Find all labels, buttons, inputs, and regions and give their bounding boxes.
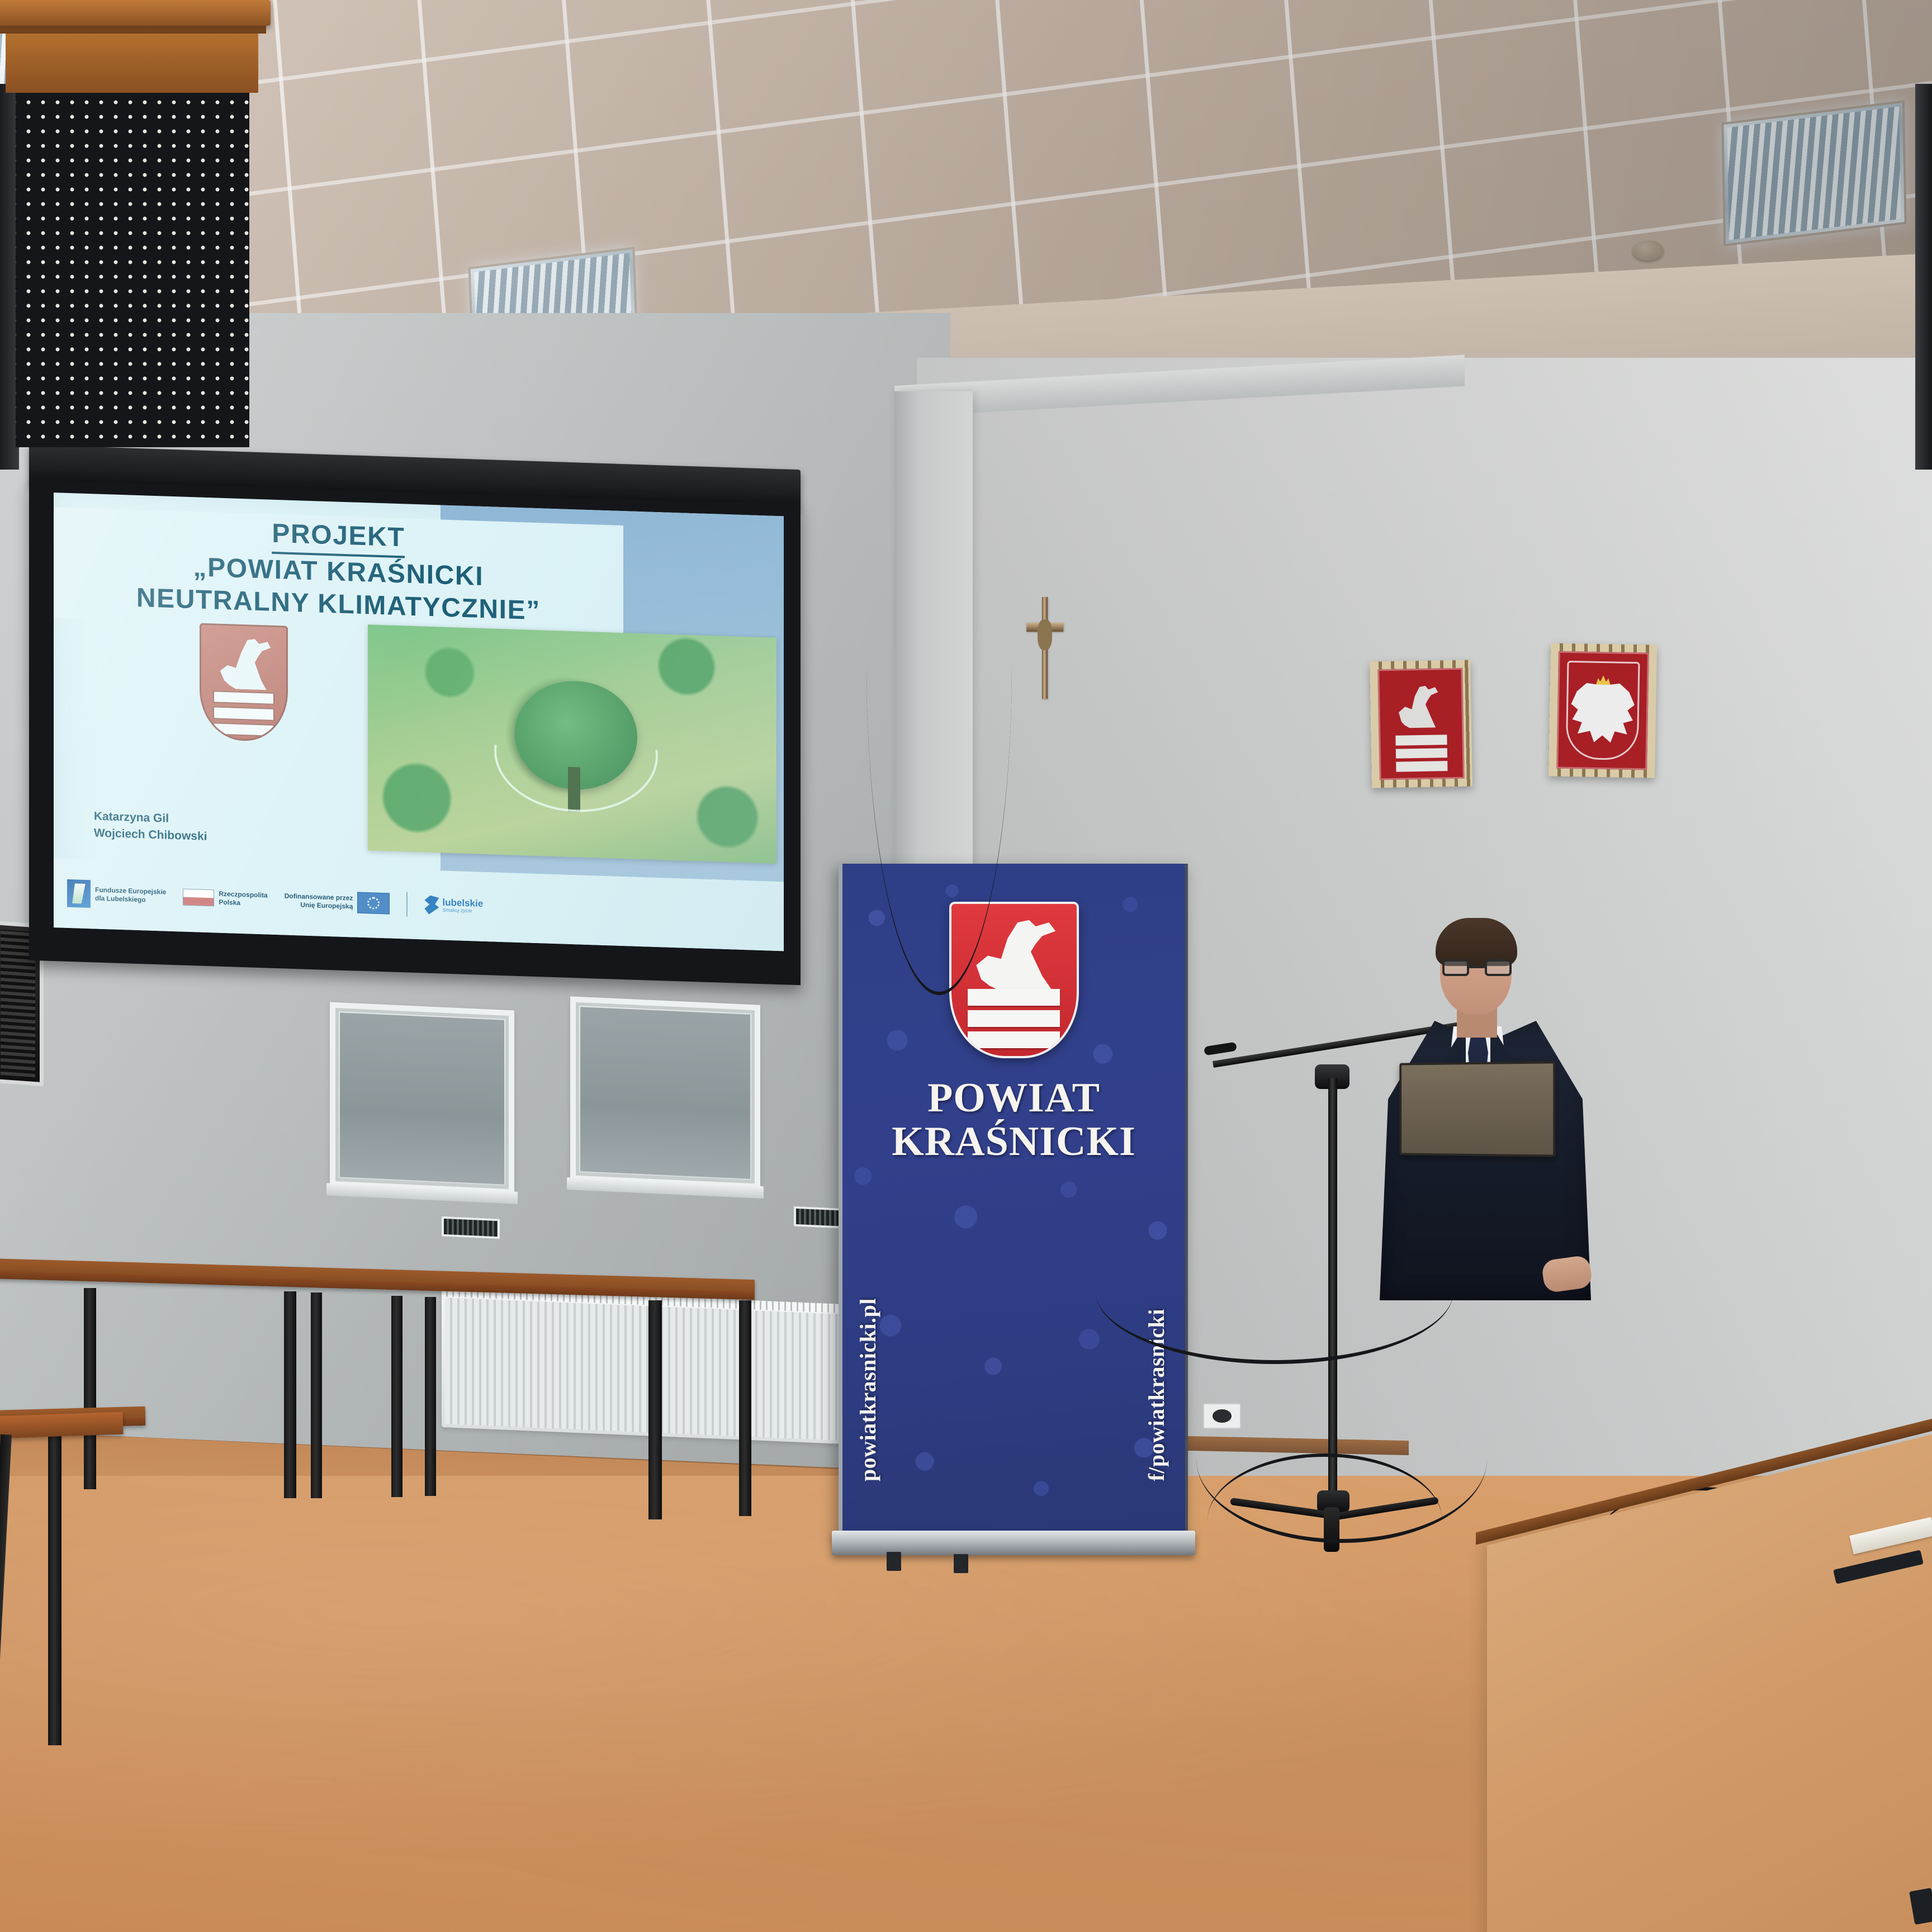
logo-eu-line2: Unię Europejską bbox=[285, 900, 353, 910]
power-outlet bbox=[1203, 1403, 1241, 1429]
table-leg bbox=[648, 1300, 662, 1519]
fundusze-europejskie-icon bbox=[67, 879, 91, 908]
projection-screen: PROJEKT „POWIAT KRAŚNICKI NEUTRALNY KLIM… bbox=[29, 445, 801, 1018]
logo-lubelskie: lubelskie Smakuj życie bbox=[424, 895, 483, 916]
radiator bbox=[442, 1287, 844, 1444]
lectern-front-band bbox=[6, 32, 258, 93]
slide-coat-of-arms-icon bbox=[200, 623, 288, 742]
presentation-slide: PROJEKT „POWIAT KRAŚNICKI NEUTRALNY KLIM… bbox=[54, 493, 784, 951]
window-blind bbox=[580, 1007, 750, 1179]
logo-divider bbox=[406, 892, 408, 916]
eyeglasses-icon bbox=[1442, 959, 1512, 976]
deer-icon bbox=[976, 916, 1059, 995]
deer-icon bbox=[1398, 684, 1439, 731]
conference-room-photo: PROJEKT „POWIAT KRAŚNICKI NEUTRALNY KLIM… bbox=[0, 0, 1932, 1932]
eu-flag-icon bbox=[357, 892, 390, 914]
lectern-top-surface bbox=[0, 0, 271, 26]
banner-title: POWIAT KRAŚNICKI bbox=[842, 1076, 1185, 1164]
logo-unia-europejska: Dofinansowane przez Unię Europejską bbox=[285, 889, 390, 914]
banner-foot bbox=[887, 1552, 901, 1571]
banner-title-line1: POWIAT bbox=[842, 1076, 1185, 1120]
polish-flag-icon bbox=[183, 888, 214, 906]
table-leg bbox=[48, 1427, 61, 1745]
power-cable bbox=[1207, 1453, 1442, 1588]
logo-rzeczpospolita-polska: Rzeczpospolita Polska bbox=[183, 888, 267, 908]
banner-base bbox=[832, 1531, 1195, 1555]
logo-fundusze-europejskie: Fundusze Europejskie dla Lubelskiego bbox=[67, 879, 166, 911]
emblem-powiat-krasnicki bbox=[1370, 660, 1472, 788]
banner-foot bbox=[954, 1554, 968, 1573]
table-leg bbox=[84, 1288, 96, 1489]
logo-pl-line2: Polska bbox=[219, 898, 267, 907]
table-leg bbox=[425, 1297, 436, 1496]
window-left bbox=[330, 1002, 514, 1195]
screen-frame: PROJEKT „POWIAT KRAŚNICKI NEUTRALNY KLIM… bbox=[29, 480, 801, 986]
slide-authors: Katarzyna Gil Wojciech Chibowski bbox=[94, 808, 207, 845]
deer-icon bbox=[220, 634, 273, 695]
table-leg bbox=[739, 1300, 751, 1516]
emblem-godlo-polski bbox=[1549, 643, 1657, 778]
slide-nature-photo bbox=[368, 624, 776, 864]
lubelskie-mark-icon bbox=[424, 895, 439, 915]
wall-cable bbox=[866, 335, 1012, 995]
table-leg bbox=[391, 1296, 402, 1497]
window-blind bbox=[340, 1012, 504, 1184]
lectern-rail bbox=[0, 25, 266, 34]
lectern-perforated-panel bbox=[16, 89, 249, 447]
lectern-side-post bbox=[1915, 84, 1932, 470]
table-leg bbox=[311, 1292, 322, 1498]
crucifix-icon bbox=[1026, 597, 1063, 699]
table-leg bbox=[284, 1291, 296, 1498]
laptop[interactable] bbox=[1399, 1061, 1555, 1157]
window-right bbox=[570, 996, 760, 1189]
slide-title: PROJEKT „POWIAT KRAŚNICKI NEUTRALNY KLIM… bbox=[54, 507, 623, 636]
rollup-banner: POWIAT KRAŚNICKI powiatkrasnicki.pl f/po… bbox=[839, 864, 1188, 1543]
lectern bbox=[0, 0, 263, 470]
wall-vent bbox=[442, 1216, 500, 1239]
banner-website-url: powiatkrasnicki.pl bbox=[855, 1298, 881, 1481]
slide-author-2: Wojciech Chibowski bbox=[94, 825, 207, 845]
slide-title-line1: PROJEKT bbox=[272, 518, 405, 558]
banner-title-line2: KRAŚNICKI bbox=[842, 1120, 1185, 1163]
